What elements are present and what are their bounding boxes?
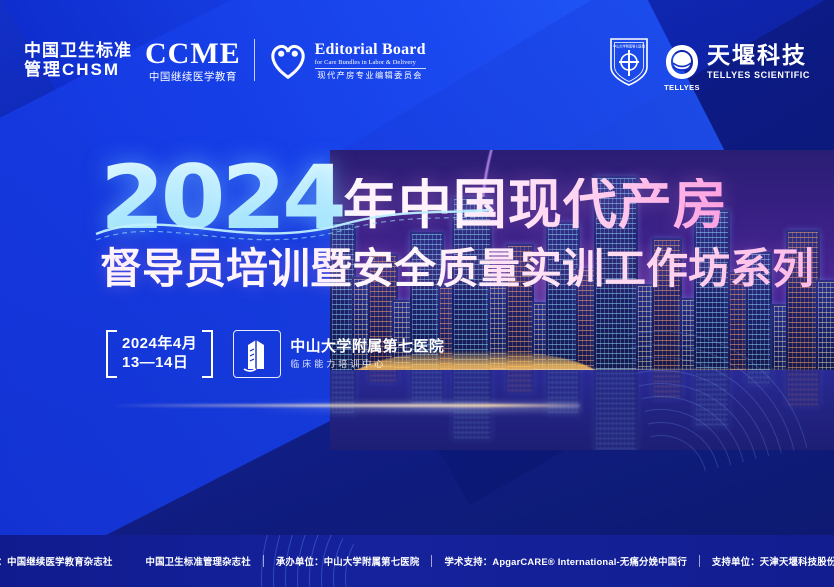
footer-org-item: 学术支持：ApgarCARE® International-无痛分娩中国行 bbox=[444, 554, 686, 568]
event-date-badge: 2024年4月 13—14日 bbox=[106, 330, 213, 378]
ccme-abbr: CCME bbox=[145, 38, 241, 70]
building bbox=[652, 370, 682, 399]
footer-org-item: 中国卫生标准管理杂志社 bbox=[146, 554, 251, 568]
chsm-line1: 中国卫生标准 bbox=[24, 41, 132, 61]
tellyes-text: 天堰科技 TELLYES SCIENTIFIC bbox=[707, 44, 810, 80]
editorial-board-subtitle: for Care Bundles in Labor & Delivery bbox=[315, 59, 426, 69]
footer-org-item: 承办单位：中山大学附属第七医院 bbox=[276, 554, 420, 568]
building bbox=[594, 370, 638, 450]
headline-row-1: 2024 年中国现代产房 bbox=[100, 160, 834, 236]
venue-text: 中山大学附属第七医院 临床能力培训中心 bbox=[290, 338, 444, 370]
footer-separator bbox=[431, 555, 432, 567]
event-venue: 中山大学附属第七医院 临床能力培训中心 bbox=[233, 330, 444, 378]
event-meta: 2024年4月 13—14日 中山大学附属第七医院 临床能力培训中心 bbox=[106, 330, 444, 378]
footer-organizations: 主办单位：中国继续医学教育杂志社中国卫生标准管理杂志社承办单位：中山大学附属第七… bbox=[0, 554, 834, 568]
footer-org-item: 支持单位：天津天堰科技股份有限公司 bbox=[712, 554, 834, 568]
ccme-logo: CCME 中国继续医学教育 bbox=[145, 38, 241, 83]
building bbox=[506, 370, 534, 393]
university-crest-icon: 中山大学附属第七医院 bbox=[608, 36, 650, 88]
chsm-line2: 管理CHSM bbox=[24, 60, 132, 80]
editorial-board-cn: 现代产房专业编辑委员会 bbox=[315, 71, 426, 80]
footer-org-item: 主办单位：中国继续医学教育杂志社 bbox=[0, 554, 113, 568]
tellyes-mark-label: TELLYES bbox=[664, 83, 700, 92]
logo-bar: 中国卫生标准 管理CHSM CCME 中国继续医学教育 Editorial Bo bbox=[0, 0, 834, 125]
editorial-board-text: Editorial Board for Care Bundles in Labo… bbox=[315, 41, 426, 80]
footer-separator bbox=[263, 555, 264, 567]
poster-headline: 2024 年中国现代产房 督导员培训暨安全质量实训工作坊系列（第一期） bbox=[100, 160, 834, 292]
horizontal-light-haze bbox=[250, 402, 580, 412]
partner-logos-left: 中国卫生标准 管理CHSM CCME 中国继续医学教育 Editorial Bo bbox=[24, 38, 426, 83]
chsm-logo: 中国卫生标准 管理CHSM bbox=[24, 41, 132, 80]
year-2024: 2024 bbox=[100, 160, 343, 236]
building bbox=[746, 370, 772, 385]
venue-name: 中山大学附属第七医院 bbox=[290, 338, 444, 356]
venue-sub: 临床能力培训中心 bbox=[290, 359, 444, 370]
heart-icon bbox=[268, 41, 308, 79]
conference-poster: 中国卫生标准 管理CHSM CCME 中国继续医学教育 Editorial Bo bbox=[0, 0, 834, 587]
partner-logos-right: 中山大学附属第七医院 TELLYES 天堰科技 TELLYES SCIENTIF… bbox=[608, 36, 810, 88]
tellyes-cn: 天堰科技 bbox=[707, 44, 810, 67]
building bbox=[786, 370, 820, 407]
event-date-line2: 13—14日 bbox=[122, 354, 197, 373]
tellyes-logo-icon: TELLYES bbox=[664, 44, 700, 80]
svg-text:中山大学附属第七医院: 中山大学附属第七医院 bbox=[613, 44, 646, 49]
building bbox=[816, 280, 834, 372]
tellyes-en: TELLYES SCIENTIFIC bbox=[707, 70, 810, 80]
event-date-line1: 2024年4月 bbox=[122, 335, 197, 354]
footer-separator bbox=[699, 555, 700, 567]
editorial-board-title: Editorial Board bbox=[315, 41, 426, 59]
poster-footer: 主办单位：中国继续医学教育杂志社中国卫生标准管理杂志社承办单位：中山大学附属第七… bbox=[0, 535, 834, 587]
hospital-building-icon bbox=[233, 330, 281, 378]
headline-main-cn: 年中国现代产房 bbox=[343, 178, 728, 236]
headline-subtitle: 督导员培训暨安全质量实训工作坊系列（第一期） bbox=[100, 246, 834, 292]
logo-divider bbox=[254, 39, 255, 81]
ccme-cn: 中国继续医学教育 bbox=[145, 72, 241, 83]
tellyes-logo: TELLYES 天堰科技 TELLYES SCIENTIFIC bbox=[664, 44, 810, 80]
editorial-board-logo: Editorial Board for Care Bundles in Labo… bbox=[268, 41, 426, 80]
building bbox=[694, 370, 730, 427]
